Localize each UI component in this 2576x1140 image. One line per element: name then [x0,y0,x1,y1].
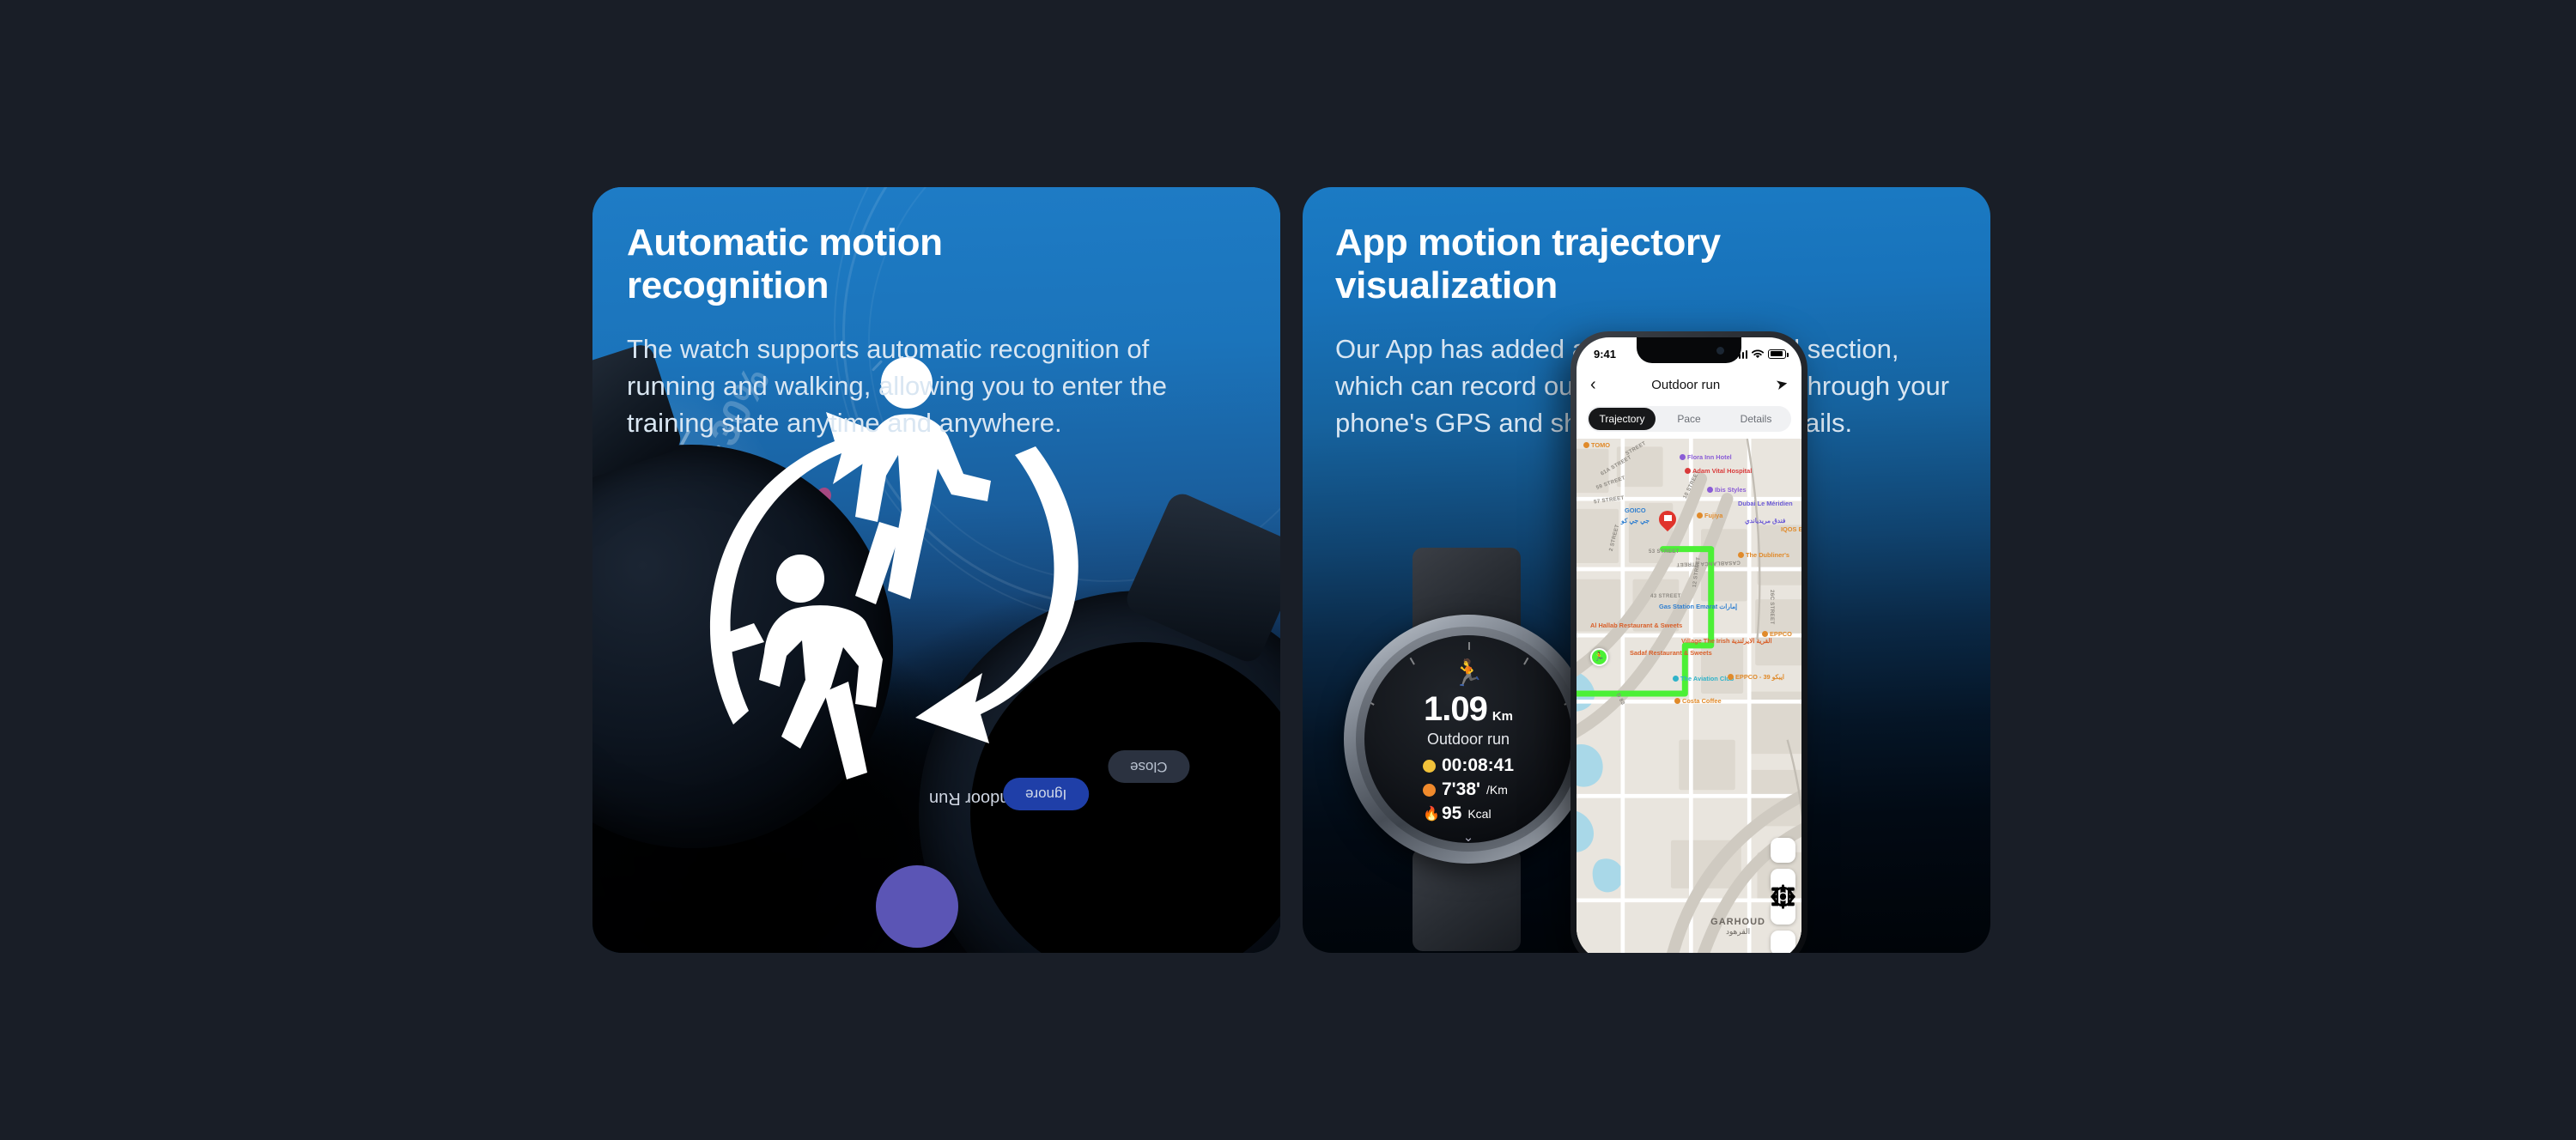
poi-label: EPPCO - 39 ايبكو [1728,674,1774,681]
map-controls [1771,838,1795,953]
poi-label: Village The Irish القرية الايرلندية [1681,638,1731,645]
poi-label: GOICO [1625,507,1646,514]
watch-bezel: 🏃 1.09 Km Outdoor run 00:08:41 [1356,627,1581,852]
page-root: 30% Indoor Run Ignore Close [0,0,2576,1140]
poi-label: Gas Station Emarat إمارات [1659,603,1714,610]
distance-readout: 1.09 Km [1424,690,1513,729]
poi-label: The Dubliner's [1738,552,1789,559]
poi-label: Flora Inn Hotel [1680,454,1732,461]
wifi-icon [1752,349,1764,359]
watch-case: 🏃 1.09 Km Outdoor run 00:08:41 [1344,615,1593,864]
status-icons [1735,349,1787,359]
card-automatic-motion-recognition: 30% Indoor Run Ignore Close [592,187,1280,953]
poi-label: فندق مريدياندي [1745,518,1785,525]
district-label: GARHOUD القرهود [1710,917,1765,937]
poi-label: Adam Vital Hospital [1685,468,1752,475]
metric-row-pace: 7'38' /Km [1423,779,1514,800]
smartphone: 9:41 ‹ Outdoor [1571,331,1807,953]
flag-finish-marker [1659,511,1676,533]
poi-label: Fujiya [1697,512,1722,519]
poi-label: Sadaf Restaurant & Sweets [1630,650,1678,657]
chevron-down-icon[interactable]: ⌄ [1463,829,1474,843]
poi-label: Dubai Le Méridien [1738,500,1793,507]
watch-face: 🏃 1.09 Km Outdoor run 00:08:41 [1364,635,1572,843]
card-left-text-block: Automatic motion recognition The watch s… [627,221,1228,442]
stopwatch-icon [1423,760,1436,773]
poi-label: Costa Coffee [1674,698,1722,705]
phone-tab-bar: Trajectory Pace Details [1587,406,1791,432]
running-person-icon: 🏃 [1452,661,1484,687]
watch-band-bottom [1413,848,1521,951]
poi-label: TOMO [1583,442,1610,449]
poi-label: Ibis Styles [1707,487,1747,494]
runner-start-marker: 🏃 [1590,648,1608,666]
poi-label: EPPCO [1762,631,1792,638]
battery-icon [1768,349,1786,359]
map-pin-icon[interactable] [1771,931,1795,953]
poi-label: The Aviation Club [1673,676,1726,682]
card-app-motion-trajectory: App motion trajectory visualization Our … [1303,187,1990,953]
smartwatch: 🏃 1.09 Km Outdoor run 00:08:41 [1339,548,1596,951]
pace-value: 7'38' [1442,779,1480,800]
poi-label: IQOS Bar at Dub [1781,526,1801,533]
card-left-body: The watch supports automatic recognition… [627,331,1202,441]
metric-row-duration: 00:08:41 [1423,755,1514,776]
poi-label: جي جي كو [1621,518,1649,525]
street-label: 53 STREET [1649,549,1680,555]
calories-value: 95 [1442,803,1461,824]
poi-label: Al Hallab Restaurant & Sweets [1590,622,1638,629]
tab-pace[interactable]: Pace [1656,408,1722,430]
tab-details[interactable]: Details [1722,408,1789,430]
cycle-arrow-down [915,446,1078,743]
pace-icon [1423,784,1436,797]
phone-nav-title: Outdoor run [1651,378,1720,392]
duration-value: 00:08:41 [1442,755,1514,776]
metric-row-calories: 🔥 95 Kcal [1423,803,1514,824]
street-label: 26C STREET [1769,590,1775,624]
map-canvas [1577,439,1801,953]
phone-screen: 9:41 ‹ Outdoor [1577,337,1801,953]
front-camera-icon [1716,347,1724,355]
sport-name-label: Outdoor run [1427,731,1510,749]
watch-metrics-list: 00:08:41 7'38' /Km 🔥 9 [1423,755,1514,824]
chevron-left-icon[interactable]: ‹ [1590,376,1596,393]
calories-unit: Kcal [1467,807,1491,821]
card-left-title: Automatic motion recognition [627,221,1108,307]
distance-unit: Km [1492,709,1513,724]
street-label: 43 STREET [1650,593,1681,599]
phone-notch [1637,337,1741,363]
pace-unit: /Km [1486,783,1508,797]
card-right-title: App motion trajectory visualization [1335,221,1868,307]
feature-card-row: 30% Indoor Run Ignore Close [592,187,1990,953]
status-time: 9:41 [1594,348,1616,361]
share-paper-plane-icon[interactable]: ➤ [1774,375,1789,395]
map-view[interactable]: 🏃 STREET 61A STREET 59 STREET 57 STREET … [1577,439,1801,953]
indoor-run-activity-ring [876,865,958,948]
phone-nav-bar: ‹ Outdoor run ➤ [1577,367,1801,403]
flame-icon: 🔥 [1423,808,1436,821]
tab-trajectory[interactable]: Trajectory [1589,408,1656,430]
watch-face-content: 🏃 1.09 Km Outdoor run 00:08:41 [1364,635,1572,843]
distance-value: 1.09 [1424,690,1487,729]
